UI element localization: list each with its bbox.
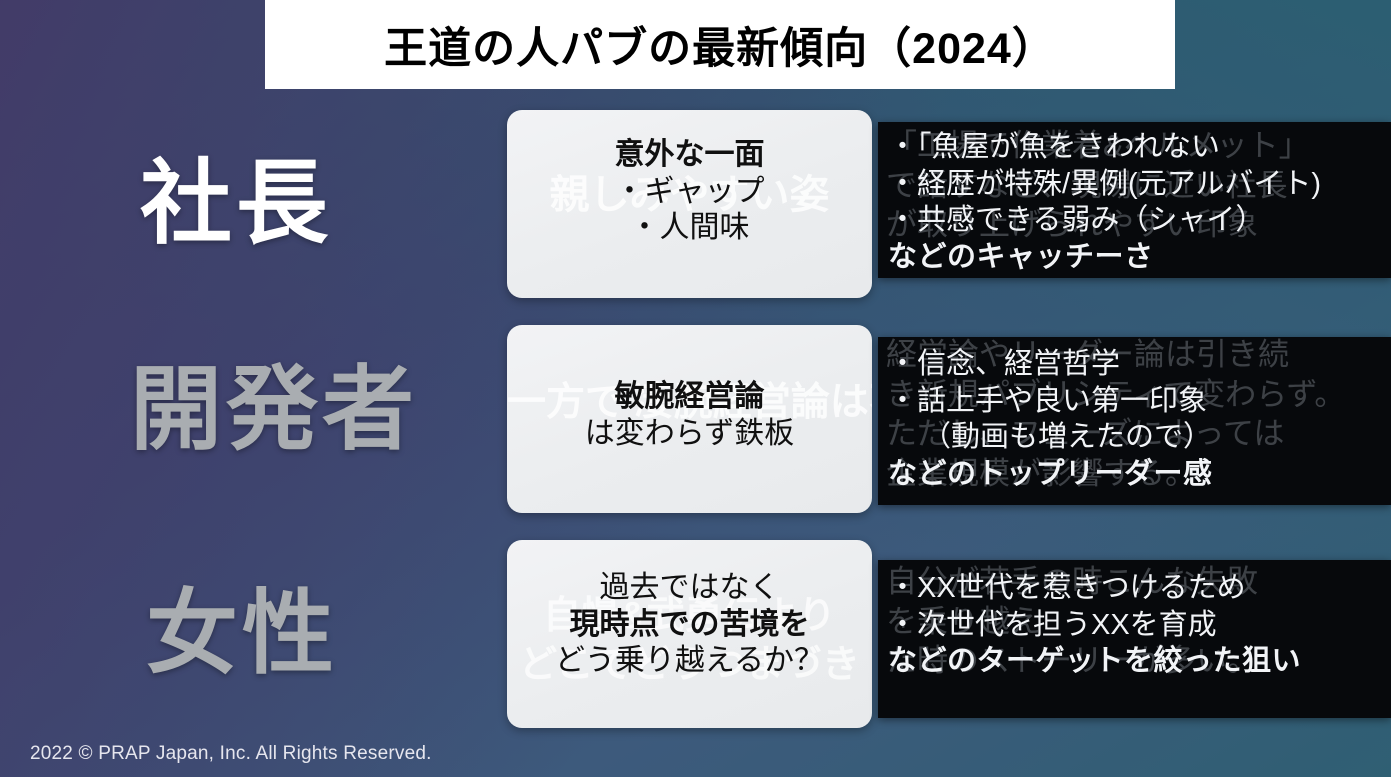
summary-card-row2: 一方で 凄腕経営論は不滅 敏腕経営論 は変わらず鉄板 bbox=[507, 325, 872, 513]
panel-bullet-row2-3: （動画も増えたので） bbox=[888, 419, 1391, 456]
card-heading-row3: 現時点での苦境を bbox=[507, 607, 872, 644]
category-label-row2: 開発者 bbox=[130, 364, 418, 456]
card-content-row1: 意外な一面 ・ギャップ ・人間味 bbox=[507, 110, 872, 247]
category-label-row3: 女性 bbox=[146, 588, 338, 680]
card-line-row3-2: どう乗り越えるか？ bbox=[507, 643, 872, 680]
detail-panel-row1: 「工場で作業着&ヘルメット」 で話すなど、現場に近い社長 が取り上げられやすい印… bbox=[878, 122, 1391, 278]
card-heading-row2: 敏腕経営論 bbox=[507, 379, 872, 416]
detail-panel-row3: 自分が若手の時こんな失敗 を乗り越え た時のストーリーが多い。 ・XX世代を惹き… bbox=[878, 560, 1391, 718]
panel-bullet-row1-3: ・共感できる弱み（シャイ） bbox=[888, 202, 1391, 239]
card-line-row1-1: ・ギャップ bbox=[507, 174, 872, 211]
card-line-row2-1: は変わらず鉄板 bbox=[507, 416, 872, 453]
slide-canvas: 王道の人パブの最新傾向（2024） 社長 親しみやすい姿 意外な一面 ・ギャップ… bbox=[0, 0, 1391, 777]
card-heading-row1: 意外な一面 bbox=[507, 137, 872, 174]
title-band: 王道の人パブの最新傾向（2024） bbox=[265, 0, 1175, 89]
panel-bullet-row2-2: ・話上手や良い第一印象 bbox=[888, 383, 1391, 420]
panel-conclusion-row2: などのトップリーダー感 bbox=[888, 456, 1391, 493]
panel-bullet-list-row3: ・XX世代を惹きつけるため ・次世代を担うXXを育成 などのターゲットを絞った狙… bbox=[878, 560, 1391, 680]
card-line-row1-2: ・人間味 bbox=[507, 210, 872, 247]
panel-conclusion-row1: などのキャッチーさ bbox=[888, 239, 1391, 276]
card-content-row3: 過去ではなく 現時点での苦境を どう乗り越えるか？ bbox=[507, 540, 872, 680]
copyright-footer: 2022 © PRAP Japan, Inc. All Rights Reser… bbox=[30, 743, 432, 765]
panel-conclusion-row3: などのターゲットを絞った狙い bbox=[888, 643, 1391, 680]
summary-card-row3: 自慢&武勇伝より どこでどうつまづき 過去ではなく 現時点での苦境を どう乗り越… bbox=[507, 540, 872, 728]
panel-bullet-list-row2: ・信念、経営哲学 ・話上手や良い第一印象 （動画も増えたので） などのトップリー… bbox=[878, 337, 1391, 492]
page-title: 王道の人パブの最新傾向（2024） bbox=[384, 14, 1056, 76]
summary-card-row1: 親しみやすい姿 意外な一面 ・ギャップ ・人間味 bbox=[507, 110, 872, 298]
panel-bullet-row2-1: ・信念、経営哲学 bbox=[888, 346, 1391, 383]
category-label-row1: 社長 bbox=[140, 158, 332, 250]
card-line-row3-1: 過去ではなく bbox=[507, 570, 872, 607]
panel-bullet-row1-1: ・「魚屋が魚をさわれない bbox=[888, 129, 1391, 166]
panel-bullet-row3-2: ・次世代を担うXXを育成 bbox=[888, 607, 1391, 644]
panel-bullet-row1-2: ・経歴が特殊/異例(元アルバイト) bbox=[888, 166, 1391, 203]
panel-bullet-row3-1: ・XX世代を惹きつけるため bbox=[888, 570, 1391, 607]
panel-bullet-list-row1: ・「魚屋が魚をさわれない ・経歴が特殊/異例(元アルバイト) ・共感できる弱み（… bbox=[878, 122, 1391, 275]
card-content-row2: 敏腕経営論 は変わらず鉄板 bbox=[507, 325, 872, 452]
detail-panel-row2: 経営論やリーダー論は引き続 き新規パブリシティで変わらず。 ただし、フェーズによ… bbox=[878, 337, 1391, 505]
